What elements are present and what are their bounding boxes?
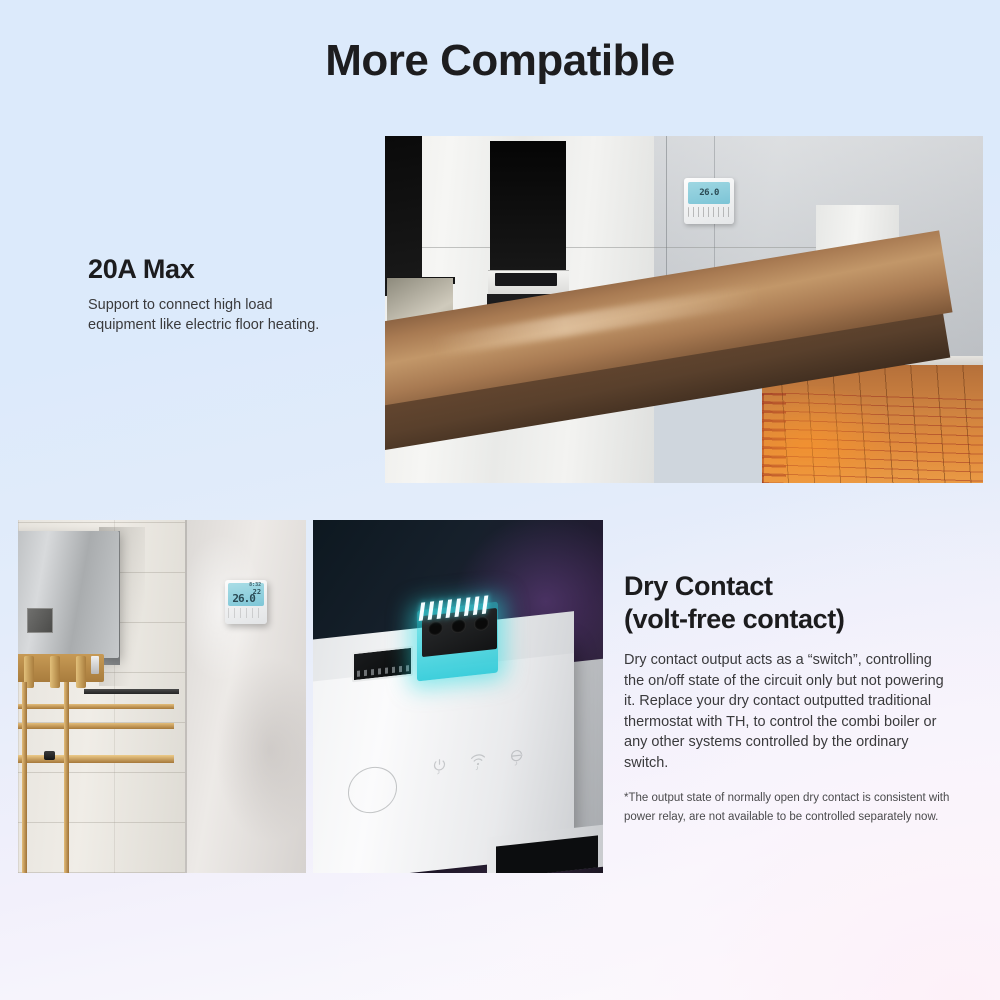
boiler-label (27, 608, 53, 633)
boiler-copper-riser-1 (22, 682, 27, 873)
device-terminal-port (352, 646, 413, 683)
boiler-copper-pipe-2 (18, 723, 174, 729)
kitchen-photo: 26.0 (385, 136, 983, 483)
boiler-photo: 8:32 22 26.0 (18, 520, 306, 873)
feature-dry-contact-heading-line1: Dry Contact (624, 570, 954, 603)
boiler-copper-pipe-1 (18, 704, 174, 710)
feature-dry-contact-body: Dry contact output acts as a “switch”, c… (624, 650, 954, 773)
page-title: More Compatible (0, 36, 1000, 86)
product-feature-page: More Compatible 26.0 (0, 0, 1000, 1000)
kitchen-black-panel-left (385, 136, 422, 296)
boiler-pipe-fitting (44, 751, 56, 760)
wifi-icon (470, 752, 486, 776)
feature-20a-max: 20A Max Support to connect high load equ… (88, 254, 338, 335)
power-icon (432, 756, 447, 780)
terminal-screw (428, 621, 443, 637)
boiler-copper-riser-2 (64, 682, 69, 873)
floor-heating-glow (762, 386, 983, 483)
boiler-copper-pipe-3 (18, 755, 174, 763)
boiler-room-thermostat: 8:32 22 26.0 (225, 580, 267, 624)
boiler-thermostat-temperature: 26.0 (232, 593, 255, 604)
kitchen-black-panel-center (490, 141, 565, 269)
feature-dry-contact-heading-line2: (volt-free contact) (624, 603, 954, 636)
wall-thermostat: 26.0 (684, 178, 734, 224)
boiler-valve-handle (91, 656, 98, 674)
kitchen-oven-glass (495, 273, 557, 285)
thermostat-temperature: 26.0 (699, 188, 719, 198)
device-photo (313, 520, 603, 873)
feature-20a-body: Support to connect high load equipment l… (88, 295, 338, 335)
thermostat-screen: 26.0 (688, 182, 730, 204)
terminal-screw (474, 616, 489, 632)
kitchen-cabinet-seam-horizontal (385, 247, 857, 248)
boiler-black-pipe (84, 689, 179, 694)
boiler-plaster-texture (185, 520, 306, 873)
feature-dry-contact: Dry Contact (volt-free contact) Dry cont… (624, 570, 954, 827)
boiler-wall-corner (185, 520, 187, 873)
terminal-screw (451, 618, 466, 634)
boiler-unit (18, 531, 119, 658)
feature-20a-heading: 20A Max (88, 254, 338, 285)
feature-dry-contact-heading: Dry Contact (volt-free contact) (624, 570, 954, 636)
boiler-thermostat-screen: 8:32 22 26.0 (228, 583, 264, 606)
boiler-thermostat-buttons (228, 608, 264, 618)
thermostat-buttons (688, 207, 730, 216)
boiler-valve-3 (76, 656, 86, 688)
feature-dry-contact-footnote: *The output state of normally open dry c… (624, 789, 954, 827)
boiler-valve-2 (50, 656, 60, 688)
sync-icon (509, 748, 525, 772)
